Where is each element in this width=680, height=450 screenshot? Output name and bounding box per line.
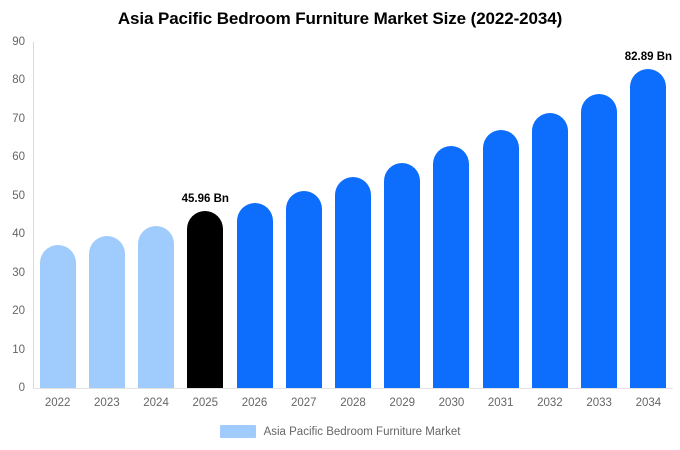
- x-axis-tick-label: 2027: [279, 397, 328, 409]
- legend-swatch-icon: [220, 425, 256, 438]
- y-axis-tick-label: 80: [12, 74, 25, 86]
- bar-2033[interactable]: [581, 94, 617, 388]
- bar-2028[interactable]: [335, 177, 371, 388]
- bar-series-group: 45.96 Bn82.89 Bn: [33, 42, 673, 388]
- x-axis-tick-label: 2028: [328, 397, 377, 409]
- y-axis-tick-label: 10: [12, 344, 25, 356]
- bar-2031[interactable]: [483, 130, 519, 388]
- bar-chart: Asia Pacific Bedroom Furniture Market Si…: [0, 0, 680, 450]
- bar-2023[interactable]: [89, 236, 125, 388]
- chart-legend: Asia Pacific Bedroom Furniture Market: [0, 425, 680, 438]
- bar-slot[interactable]: [483, 42, 519, 388]
- bar-2026[interactable]: [237, 203, 273, 388]
- bar-slot[interactable]: [335, 42, 371, 388]
- bar-slot[interactable]: 45.96 Bn: [187, 42, 223, 388]
- x-axis-tick-label: 2033: [575, 397, 624, 409]
- bar-2024[interactable]: [138, 226, 174, 388]
- x-axis-tick-label: 2024: [131, 397, 180, 409]
- x-axis-tick-label: 2031: [476, 397, 525, 409]
- bar-slot[interactable]: [384, 42, 420, 388]
- bar-2032[interactable]: [532, 113, 568, 388]
- x-axis-tick-label: 2022: [33, 397, 82, 409]
- bar-slot[interactable]: [89, 42, 125, 388]
- bar-slot[interactable]: [433, 42, 469, 388]
- y-axis-tick-label: 20: [12, 305, 25, 317]
- bar-2030[interactable]: [433, 146, 469, 388]
- bar-2025[interactable]: [187, 211, 223, 388]
- y-axis-tick-label: 50: [12, 190, 25, 202]
- x-axis-tick-label: 2023: [82, 397, 131, 409]
- bar-value-label: 45.96 Bn: [182, 193, 229, 205]
- bar-2022[interactable]: [40, 245, 76, 388]
- bar-slot[interactable]: [237, 42, 273, 388]
- x-axis-tick-label: 2029: [378, 397, 427, 409]
- legend-label: Asia Pacific Bedroom Furniture Market: [264, 426, 461, 438]
- x-axis-tick-label: 2025: [181, 397, 230, 409]
- y-axis-tick-label: 40: [12, 228, 25, 240]
- y-axis-tick-label: 90: [12, 36, 25, 48]
- bar-2027[interactable]: [286, 191, 322, 388]
- y-axis-tick-label: 70: [12, 113, 25, 125]
- x-axis-tick-labels: 2022202320242025202620272028202920302031…: [33, 397, 673, 415]
- bar-slot[interactable]: [138, 42, 174, 388]
- x-axis-tick-label: 2030: [427, 397, 476, 409]
- bar-value-label: 82.89 Bn: [625, 51, 672, 63]
- bar-2034[interactable]: [630, 69, 666, 388]
- bar-2029[interactable]: [384, 163, 420, 388]
- bar-slot[interactable]: [286, 42, 322, 388]
- x-axis-tick-label: 2032: [525, 397, 574, 409]
- y-axis-tick-label: 60: [12, 151, 25, 163]
- bar-slot[interactable]: [532, 42, 568, 388]
- legend-item[interactable]: Asia Pacific Bedroom Furniture Market: [220, 425, 461, 438]
- x-axis-tick-label: 2026: [230, 397, 279, 409]
- chart-title: Asia Pacific Bedroom Furniture Market Si…: [0, 8, 680, 30]
- bar-slot[interactable]: [581, 42, 617, 388]
- y-axis-tick-label: 30: [12, 267, 25, 279]
- x-axis-tick-label: 2034: [624, 397, 673, 409]
- x-axis-line: [33, 388, 673, 389]
- bar-slot[interactable]: [40, 42, 76, 388]
- bar-slot[interactable]: 82.89 Bn: [630, 42, 666, 388]
- y-axis-tick-label: 0: [19, 382, 25, 394]
